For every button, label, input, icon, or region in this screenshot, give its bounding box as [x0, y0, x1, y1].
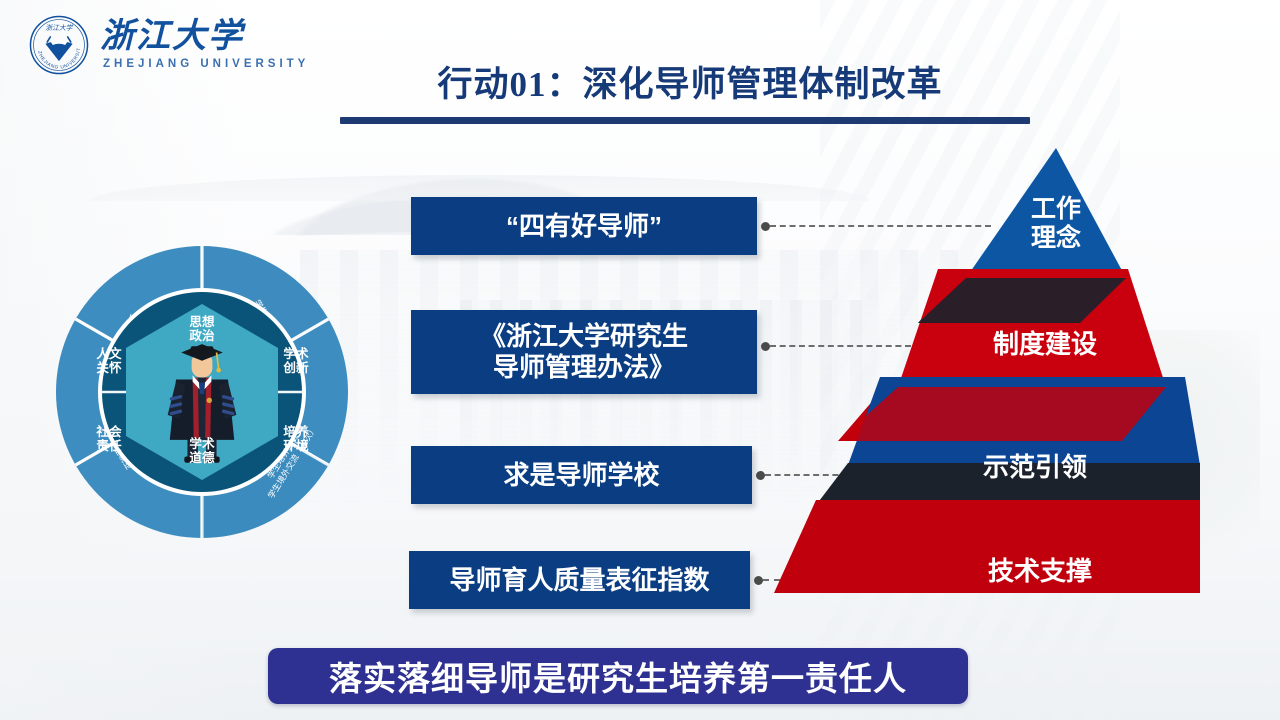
- svg-text:思想政治: 思想政治: [189, 314, 215, 343]
- logo-name-cn: 浙江大学: [100, 20, 309, 54]
- pyramid-tier-4: [774, 500, 1200, 593]
- action-label-text-3: 求是导师学校: [503, 460, 659, 491]
- action-label-text-1: “四有好导师”: [506, 211, 662, 242]
- bottom-banner-text: 落实落细导师是研究生培养第一责任人: [329, 652, 907, 700]
- page-title: 行动01：深化导师管理体制改革: [340, 56, 1040, 107]
- slide-canvas: 浙江大学 ZHEJIANG UNIVERSITY 1897 浙江大学 ZHEJI…: [0, 0, 1280, 720]
- connector-dot-1: [761, 222, 770, 231]
- svg-text:人文关怀: 人文关怀: [96, 346, 122, 375]
- university-logo: 浙江大学 ZHEJIANG UNIVERSITY 1897 浙江大学 ZHEJI…: [28, 14, 309, 76]
- pyramid-tier-1: [966, 148, 1126, 278]
- university-seal-icon: 浙江大学 ZHEJIANG UNIVERSITY 1897: [28, 14, 90, 76]
- connector-dot-2: [761, 342, 770, 351]
- strategy-pyramid: 工作 理念 制度建设 示范引领 技术支撑: [770, 145, 1200, 615]
- svg-text:1897: 1897: [55, 52, 63, 56]
- bottom-banner[interactable]: 落实落细导师是研究生培养第一责任人: [268, 648, 968, 704]
- title-block: 行动01：深化导师管理体制改革: [340, 56, 1040, 124]
- action-label-box-2[interactable]: 《浙江大学研究生 导师管理办法》: [411, 310, 757, 394]
- svg-text:浙江大学: 浙江大学: [45, 24, 73, 32]
- action-label-box-1[interactable]: “四有好导师”: [411, 197, 757, 255]
- action-label-text-2: 《浙江大学研究生 导师管理办法》: [480, 321, 688, 382]
- svg-text:学术创新: 学术创新: [282, 346, 309, 375]
- action-label-box-4[interactable]: 导师育人质量表征指数: [409, 551, 750, 609]
- action-label-text-4: 导师育人质量表征指数: [449, 565, 709, 596]
- logo-name-en: ZHEJIANG UNIVERSITY: [103, 59, 309, 71]
- action-label-box-3[interactable]: 求是导师学校: [411, 446, 752, 504]
- mentor-quality-wheel-diagram: 学生思想政治 学生获奖（思政类） 学生违纪及不良影响事件 学生学位论文学术不端 …: [52, 242, 352, 542]
- connector-dot-4: [754, 576, 763, 585]
- svg-text:学术道德: 学术道德: [189, 436, 215, 465]
- connector-dot-3: [756, 471, 765, 480]
- svg-text:社会责任: 社会责任: [95, 424, 122, 453]
- title-underline-rule: [340, 117, 1030, 124]
- svg-text:培养环境: 培养环境: [283, 424, 309, 453]
